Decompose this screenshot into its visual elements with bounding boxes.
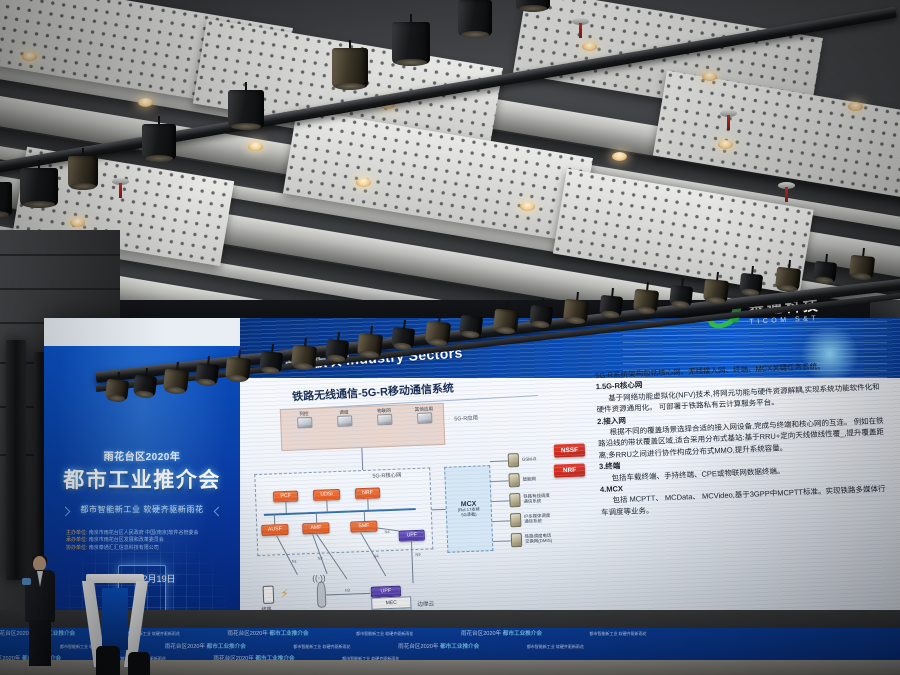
core-network-label: 5G-R核心网: [372, 471, 401, 480]
repeat-title: 都市工业推介会: [440, 644, 479, 650]
server-icon: [337, 415, 352, 427]
organizers-list: 主办单位: 南京市雨花台区人民政府 中国(南京)软件谷管委会 承办单位: 南京市…: [66, 530, 199, 552]
edge-cloud-label: 边缘云: [417, 599, 434, 608]
app-label: 物联网: [377, 408, 391, 414]
audience-silhouette: [128, 652, 150, 675]
banner-repeat-item: 雨花台区2020年 都市工业推介会: [461, 629, 542, 637]
connector: [491, 500, 509, 502]
organizer-role: 主办单位:: [66, 530, 87, 536]
banner-year: 雨花台区2020年: [44, 448, 240, 463]
banner-repeat-item: 都市智能新工业 软硬齐驱新雨花: [590, 631, 647, 637]
app-item: 物联网: [364, 407, 405, 426]
system-item: 铁路调度电话 交换网(DMIS): [511, 532, 553, 548]
mcx-box: MCX (Rel 17支持 5G承载): [444, 465, 493, 553]
nf-nrf: NRF: [355, 487, 380, 499]
interface-label-n3: N3: [345, 588, 350, 593]
system-label: 铁路调度电话 交换网(DMIS): [525, 534, 552, 544]
repeat-title: 都市工业推介会: [269, 631, 308, 637]
banner-repeat-item: 都市智能新工业 软硬齐驱新雨花: [293, 644, 350, 650]
slide-body-text: 5G-R系统架构包括核心网、无线接入网、终端、MCX关键任务系统。 1.5G-R…: [595, 358, 891, 518]
badge-nssf: NSSF: [554, 443, 585, 457]
connector: [432, 509, 446, 511]
nf-udsi: UDSI: [313, 489, 340, 501]
system-label: IP多媒体调度 通信系统: [524, 514, 550, 524]
organizer-name: 南京市雨花台区发展和改革委员会: [89, 537, 164, 543]
nf-ausf: AUSF: [261, 524, 288, 536]
microphone-icon: [22, 578, 31, 585]
stage-drape: [6, 340, 26, 580]
presenter: [24, 556, 56, 668]
interface-label-n4: N4: [384, 529, 389, 534]
app-item: 调度: [326, 409, 363, 427]
gnb-icon: [316, 582, 326, 608]
connector: [490, 460, 508, 462]
organizer-role: 协办单位:: [66, 545, 87, 551]
screenshot-root: 雨花台区2020年 都市工业推介会 都市智能新工业 软硬齐驱新雨花 主办单位: …: [0, 0, 900, 675]
connector: [491, 480, 509, 482]
system-item: 智能网: [508, 472, 536, 487]
nf-pcf: PCF: [273, 491, 298, 503]
app-item: 列控: [286, 411, 323, 429]
nf-amf: AMF: [302, 522, 329, 534]
network-node-icon: [510, 513, 522, 527]
mcx-note: (Rel 17支持 5G承载): [458, 507, 480, 517]
system-item: IP多媒体调度 通信系统: [510, 512, 551, 528]
system-label: 铁路有线调度 通信系统: [523, 494, 550, 504]
network-node-icon: [508, 453, 520, 467]
app-label: 调度: [339, 410, 348, 415]
audience-silhouette: [96, 646, 120, 675]
app-layer-label: 5G-R应用: [454, 414, 478, 423]
server-icon: [377, 414, 392, 426]
app-label: 其他应用: [415, 406, 434, 412]
interface-label-n2: N2: [317, 556, 322, 561]
organizer-row: 承办单位: 南京市雨花台区发展和改革委员会: [66, 537, 199, 544]
presenter-legs: [29, 620, 51, 666]
network-node-icon: [511, 533, 523, 547]
organizer-name: 南京泰通汇汇信息科技有限公司: [89, 545, 159, 551]
repeat-title: 都市工业推介会: [503, 631, 542, 637]
interface-label-n9: N9: [415, 552, 420, 557]
interface-label-n4b: N4: [373, 553, 378, 558]
podium-branding-panel: [102, 588, 128, 650]
network-node-icon: [508, 473, 520, 487]
badge-nrf: NRF: [554, 463, 585, 477]
system-item: 铁路有线调度 通信系统: [509, 492, 550, 508]
system-label: 智能网: [523, 477, 536, 482]
banner-title: 都市工业推介会: [44, 464, 240, 494]
repeat-small: 都市智能新工业 软硬齐驱新雨花: [293, 644, 350, 649]
repeat-small: 都市智能新工业 软硬齐驱新雨花: [527, 644, 584, 649]
presenter-head: [33, 556, 46, 571]
repeat-year: 雨花台区2020年: [165, 644, 205, 650]
ceiling: [0, 0, 900, 300]
architecture-diagram: 列控 调度 物联网 其他应用 5G-R应用: [242, 396, 591, 630]
nf-upf-core: UPF: [399, 530, 425, 542]
organizer-row: 协办单位: 南京泰通汇汇信息科技有限公司: [66, 545, 199, 552]
system-item: GSM-R: [508, 452, 537, 467]
organizer-name: 南京市雨花台区人民政府 中国(南京)软件谷管委会: [89, 530, 199, 536]
banner-repeat-item: 都市智能新工业 软硬齐驱新雨花: [356, 631, 413, 637]
connector: [326, 593, 370, 596]
antenna-icon: ((⋅)): [312, 574, 326, 584]
network-node-icon: [509, 493, 521, 507]
organizer-role: 承办单位:: [66, 537, 87, 543]
system-label: GSM-R: [522, 457, 537, 462]
terminal-icon: [263, 586, 275, 604]
banner-repeat-item: 雨花台区2020年 都市工业推介会: [165, 642, 246, 650]
presentation-slide: 产业板块 Industry Sectors 铁路无线通信-5G-R移动通信系统 …: [240, 318, 900, 630]
repeat-year: 雨花台区2020年: [398, 644, 438, 650]
banner-repeat-item: 都市智能新工业 软硬齐驱新雨花: [527, 644, 584, 650]
connector: [493, 540, 511, 542]
interface-label-n1: N1: [292, 559, 297, 564]
repeat-year: 雨花台区2020年: [227, 631, 267, 637]
repeat-small: 都市智能新工业 软硬齐驱新雨花: [356, 631, 413, 636]
server-icon: [417, 412, 432, 424]
banner-repeat-item: 雨花台区2020年 都市工业推介会: [398, 642, 479, 650]
nf-smf: SMF: [350, 520, 377, 532]
app-item: 其他应用: [404, 406, 445, 425]
repeat-title: 都市工业推介会: [207, 644, 246, 650]
connector: [492, 520, 510, 522]
radio-wave-icon: ⚡: [281, 587, 289, 600]
banner-subtitle: 都市智能新工业 软硬齐驱新雨花: [44, 504, 240, 515]
banner-repeat-item: 雨花台区2020年 都市工业推介会: [227, 629, 308, 637]
app-label: 列控: [299, 411, 308, 416]
repeat-small: 都市智能新工业 软硬齐驱新雨花: [590, 631, 647, 636]
connector: [361, 448, 363, 470]
server-icon: [297, 417, 312, 429]
repeat-year: 雨花台区2020年: [461, 631, 501, 637]
